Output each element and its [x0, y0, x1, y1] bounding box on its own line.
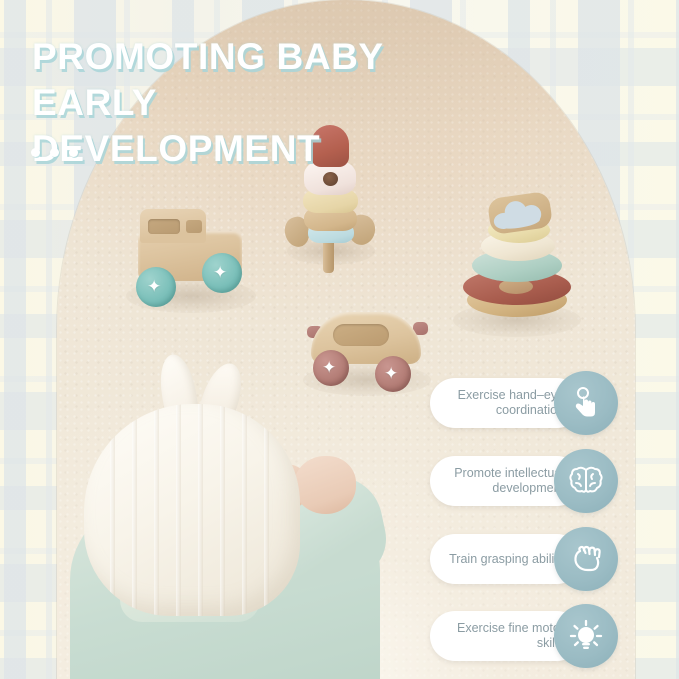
brain-icon [567, 464, 605, 498]
feature-list: Exercise hand–eye coordination Promote i… [0, 0, 679, 679]
feature-label: Train grasping ability [449, 552, 564, 567]
feature-icon-circle [554, 449, 618, 513]
feature-label: Promote intellectual development [430, 466, 564, 496]
feature-label: Exercise hand–eye coordination [430, 388, 564, 418]
product-banner: ✦ ✦ ✦ ✦ [0, 0, 679, 679]
feature-icon-circle [554, 604, 618, 668]
feature-icon-circle [554, 527, 618, 591]
lightbulb-icon [568, 618, 604, 654]
grasping-hand-icon [567, 542, 605, 576]
feature-label: Exercise fine motor skills [430, 621, 564, 651]
feature-icon-circle [554, 371, 618, 435]
tap-hand-icon [568, 385, 604, 421]
